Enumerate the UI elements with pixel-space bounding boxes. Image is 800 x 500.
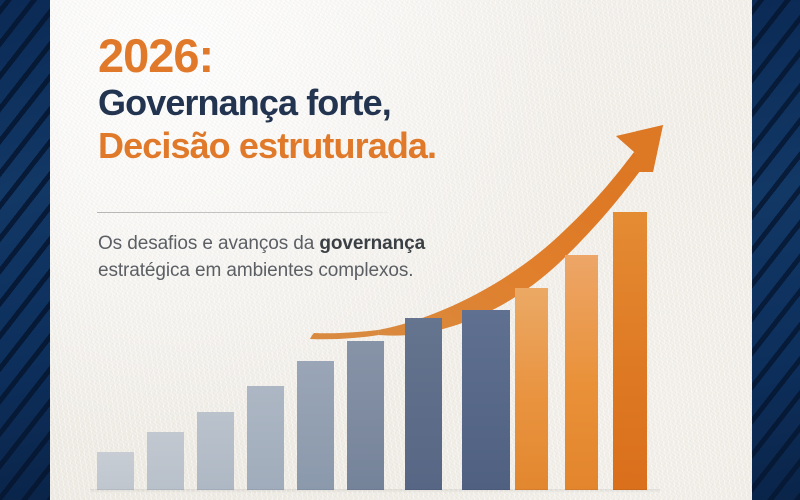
headline-line-2: Decisão estruturada. xyxy=(98,125,518,167)
headline-divider xyxy=(97,212,389,213)
subtitle-emphasis: governança xyxy=(319,233,425,254)
headline-year: 2026: xyxy=(98,32,518,80)
left-decorative-band xyxy=(0,0,50,500)
poster-canvas: 2026: Governança forte, Decisão estrutur… xyxy=(0,0,800,500)
subtitle-part-1: Os desafios e avanços da xyxy=(98,233,319,254)
subtitle-block: Os desafios e avanços da governança estr… xyxy=(98,231,428,285)
right-decorative-band xyxy=(752,0,800,500)
headline-block: 2026: Governança forte, Decisão estrutur… xyxy=(98,32,518,167)
subtitle-part-2: estratégica em ambientes complexos. xyxy=(98,260,413,281)
headline-line-1: Governança forte, xyxy=(98,82,518,124)
